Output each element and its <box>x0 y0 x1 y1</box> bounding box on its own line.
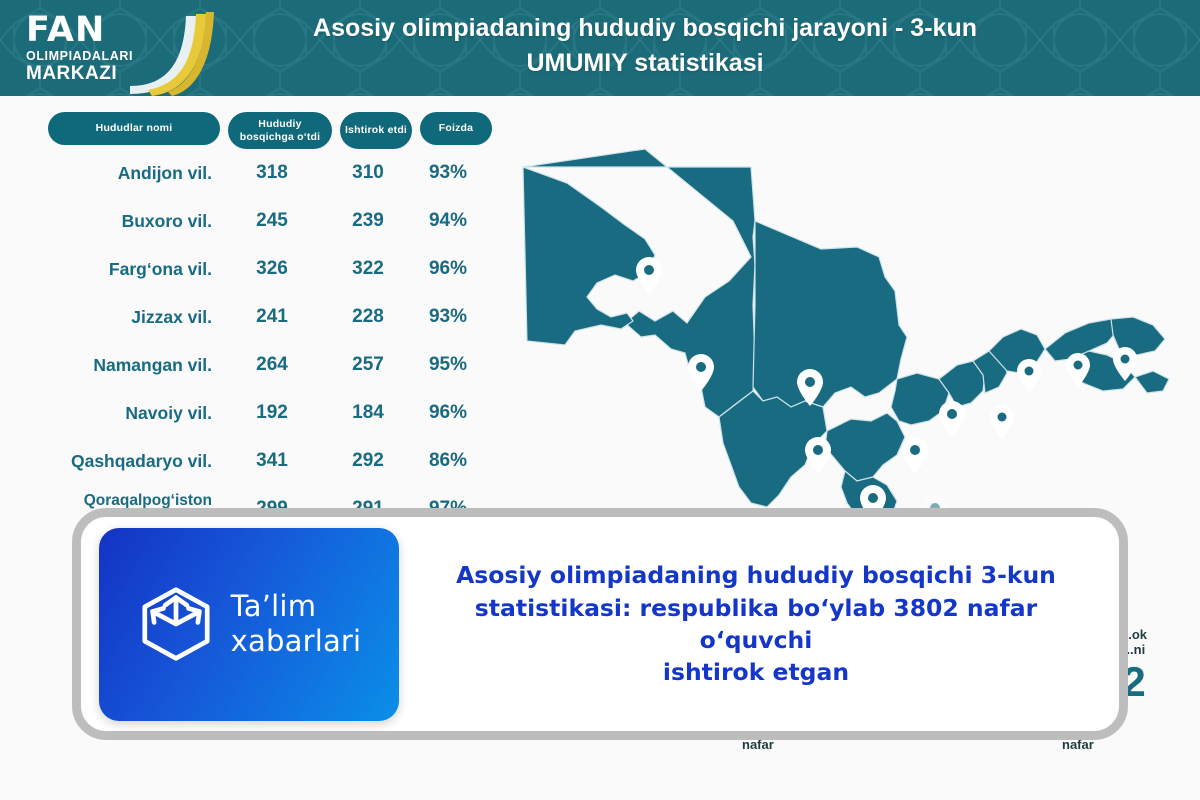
cell-participated: 239 <box>332 210 404 232</box>
cell-passed: 245 <box>220 210 324 232</box>
column-header-participated: Ishtirok etdi <box>340 112 412 149</box>
news-headline-line1: Asosiy olimpiadaning hududiy bosqichi 3-… <box>419 559 1093 591</box>
table-row: Jizzax vil. 241 228 93% <box>48 293 508 341</box>
talim-xabarlari-brand-card[interactable]: Ta’lim xabarlari <box>99 528 399 721</box>
cell-passed: 341 <box>220 450 324 472</box>
cell-participated: 184 <box>332 402 404 424</box>
page-title: Asosiy olimpiadaning hududiy bosqichi ja… <box>210 11 1080 80</box>
table-row: Qashqadaryo vil. 341 292 86% <box>48 437 508 485</box>
column-header-percent: Foizda <box>420 112 492 145</box>
cell-percent: 86% <box>412 450 484 472</box>
map-marker <box>805 437 831 474</box>
brand-name-line1: Ta’lim <box>231 589 362 624</box>
cell-percent: 95% <box>412 354 484 376</box>
cell-passed: 326 <box>220 258 324 280</box>
cell-region-name: Navoiy vil. <box>48 404 220 422</box>
page-title-line-2: UMUMIY statistikasi <box>210 46 1080 81</box>
logo-line-markazi: MARKAZI <box>26 64 133 83</box>
news-headline-line3: ishtirok etgan <box>419 656 1093 688</box>
cell-percent: 93% <box>412 306 484 328</box>
map-marker <box>990 405 1014 439</box>
fan-olimpiadalari-logo: FAN OLIMPIADALARI MARKAZI <box>26 8 202 88</box>
cell-passed: 264 <box>220 354 324 376</box>
cube-icon <box>137 585 215 663</box>
table-header-row: Hududlar nomi Hududiy bosqichga o‘tdi Is… <box>48 112 508 149</box>
cell-region-name: Jizzax vil. <box>48 308 220 326</box>
table-row: Namangan vil. 264 257 95% <box>48 341 508 389</box>
swoosh-icon <box>122 10 214 96</box>
cell-region-name: Namangan vil. <box>48 356 220 374</box>
column-header-region-name: Hududlar nomi <box>48 112 220 145</box>
cell-participated: 228 <box>332 306 404 328</box>
cell-percent: 93% <box>412 162 484 184</box>
map-marker <box>1017 359 1041 393</box>
cell-participated: 322 <box>332 258 404 280</box>
table-row: Andijon vil. 318 310 93% <box>48 149 508 197</box>
table-row: Navoiy vil. 192 184 96% <box>48 389 508 437</box>
cell-passed: 241 <box>220 306 324 328</box>
cell-percent: 94% <box>412 210 484 232</box>
news-overlay-card[interactable]: Ta’lim xabarlari Asosiy olimpiadaning hu… <box>72 508 1128 740</box>
cell-region-name: Farg‘ona vil. <box>48 260 220 278</box>
cell-participated: 292 <box>332 450 404 472</box>
poster-canvas: FAN OLIMPIADALARI MARKAZI Asosiy olimpia… <box>0 0 1200 800</box>
table-row: Farg‘ona vil. 326 322 96% <box>48 245 508 293</box>
news-headline: Asosiy olimpiadaning hududiy bosqichi 3-… <box>399 559 1119 689</box>
cell-participated: 257 <box>332 354 404 376</box>
cell-region-name: Buxoro vil. <box>48 212 220 230</box>
map-marker <box>636 257 662 294</box>
brand-name-line2: xabarlari <box>231 624 362 659</box>
cell-participated: 310 <box>332 162 404 184</box>
column-header-passed: Hududiy bosqichga o‘tdi <box>228 112 332 149</box>
cell-passed: 192 <box>220 402 324 424</box>
page-title-line-1: Asosiy olimpiadaning hududiy bosqichi ja… <box>313 14 977 42</box>
uzbekistan-map <box>505 125 1195 525</box>
cell-percent: 96% <box>412 402 484 424</box>
page-header: FAN OLIMPIADALARI MARKAZI Asosiy olimpia… <box>0 0 1200 96</box>
map-marker <box>939 401 965 438</box>
logo-line-olimpiadalari: OLIMPIADALARI <box>26 50 133 63</box>
map-marker <box>902 437 928 474</box>
cell-region-name: Qashqadaryo vil. <box>48 452 220 470</box>
cell-percent: 96% <box>412 258 484 280</box>
cell-passed: 318 <box>220 162 324 184</box>
brand-name: Ta’lim xabarlari <box>231 589 362 659</box>
cell-region-name: Andijon vil. <box>48 164 220 182</box>
logo-line-fan: FAN <box>26 13 133 48</box>
news-headline-line2: statistikasi: respublika bo‘ylab 3802 na… <box>419 592 1093 657</box>
table-row: Buxoro vil. 245 239 94% <box>48 197 508 245</box>
